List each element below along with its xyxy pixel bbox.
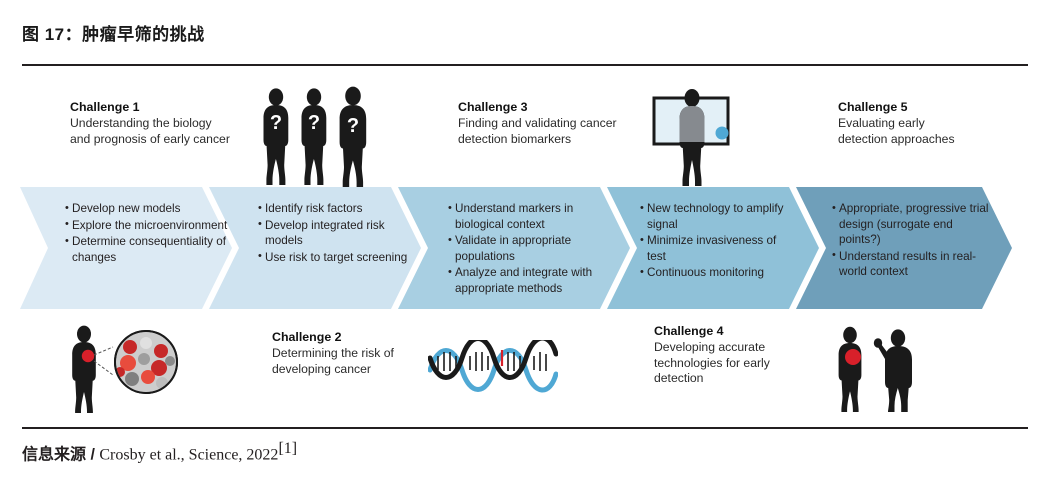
bullet-item: Continuous monitoring bbox=[640, 265, 792, 281]
challenge-3-header: Challenge 3 bbox=[458, 100, 628, 115]
patient-doctor-icon bbox=[826, 326, 934, 412]
title-divider bbox=[22, 64, 1028, 66]
chevron-5-bullets: Appropriate, progressive trial design (s… bbox=[832, 187, 990, 309]
svg-text:?: ? bbox=[270, 112, 282, 134]
bullet-item: New technology to amplify signal bbox=[640, 201, 792, 232]
chevron-3-bullets: Understand markers in biological context… bbox=[448, 187, 614, 309]
bullet-item: Use risk to target screening bbox=[258, 250, 410, 266]
bullet-item: Develop integrated risk models bbox=[258, 218, 410, 249]
footer-divider bbox=[22, 427, 1028, 429]
challenge-label-5: Challenge 5 Evaluating early detection a… bbox=[838, 100, 968, 147]
challenge-label-3: Challenge 3 Finding and validating cance… bbox=[458, 100, 628, 147]
challenge-label-4: Challenge 4 Developing accurate technolo… bbox=[654, 324, 806, 386]
bullet-item: Identify risk factors bbox=[258, 201, 410, 217]
challenge-2-body: Determining the risk of developing cance… bbox=[272, 346, 422, 377]
page-title: 图 17：肿瘤早筛的挑战 bbox=[22, 20, 205, 45]
svg-text:?: ? bbox=[308, 112, 320, 134]
bullet-item: Validate in appropriate populations bbox=[448, 233, 614, 264]
bullet-item: Understand results in real-world context bbox=[832, 249, 990, 280]
challenge-2-header: Challenge 2 bbox=[272, 330, 422, 345]
bullet-item: Determine consequentiality of changes bbox=[65, 234, 233, 265]
challenge-chevron-band: Develop new models Explore the microenvi… bbox=[20, 187, 1020, 309]
chevron-1-bullets: Develop new models Explore the microenvi… bbox=[65, 187, 233, 309]
source-note: 信息来源 / Crosby et al., Science, 2022[1] bbox=[22, 440, 297, 464]
challenge-3-body: Finding and validating cancer detection … bbox=[458, 116, 628, 147]
tumor-microenvironment-icon bbox=[58, 325, 186, 413]
challenge-1-header: Challenge 1 bbox=[70, 100, 235, 115]
source-footnote: [1] bbox=[278, 440, 297, 457]
bullet-item: Appropriate, progressive trial design (s… bbox=[832, 201, 990, 248]
challenge-label-2: Challenge 2 Determining the risk of deve… bbox=[272, 330, 422, 377]
challenge-4-body: Developing accurate technologies for ear… bbox=[654, 340, 806, 386]
bullet-item: Minimize invasiveness of test bbox=[640, 233, 792, 264]
patient-scanner-icon bbox=[646, 86, 742, 188]
svg-text:?: ? bbox=[347, 115, 359, 137]
challenge-5-body: Evaluating early detection approaches bbox=[838, 116, 968, 147]
chevron-2-bullets: Identify risk factors Develop integrated… bbox=[258, 187, 410, 309]
source-label: 信息来源 / bbox=[22, 446, 95, 463]
challenge-label-1: Challenge 1 Understanding the biology an… bbox=[70, 100, 235, 147]
three-people-question-icon: ? ? ? bbox=[256, 86, 374, 188]
source-citation: Crosby et al., Science, 2022 bbox=[99, 446, 278, 463]
dna-helix-icon bbox=[428, 340, 558, 394]
challenge-5-header: Challenge 5 bbox=[838, 100, 968, 115]
challenge-4-header: Challenge 4 bbox=[654, 324, 806, 339]
challenge-1-body: Understanding the biology and prognosis … bbox=[70, 116, 235, 147]
chevron-4-bullets: New technology to amplify signal Minimiz… bbox=[640, 187, 792, 309]
bullet-item: Develop new models bbox=[65, 201, 233, 217]
bullet-item: Analyze and integrate with appropriate m… bbox=[448, 265, 614, 296]
bullet-item: Understand markers in biological context bbox=[448, 201, 614, 232]
bullet-item: Explore the microenvironment bbox=[65, 218, 233, 234]
